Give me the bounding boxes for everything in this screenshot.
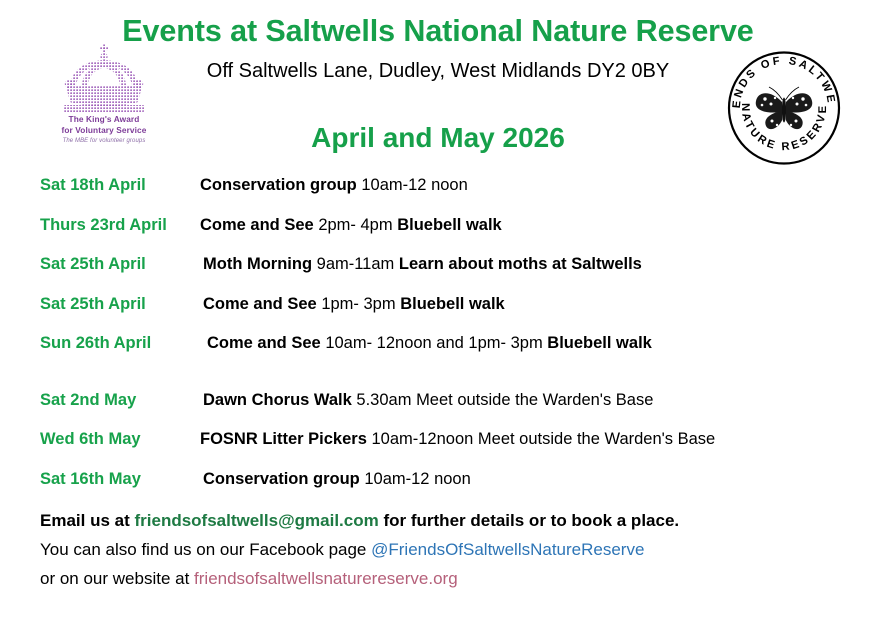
event-time: 10am-12noon [371, 430, 473, 448]
event-details: Moth Morning 9am-11am Learn about moths … [203, 255, 642, 274]
footer-email-period: . [674, 511, 679, 530]
footer-facebook-prefix: You can also find us on our Facebook pag… [40, 540, 371, 559]
event-details: Conservation group 10am-12 noon [203, 470, 471, 489]
event-time: 1pm- 3pm [321, 295, 395, 313]
events-list: Sat 18th AprilConservation group 10am-12… [0, 176, 876, 509]
event-title: Come and See [200, 216, 314, 234]
event-row: Thurs 23rd AprilCome and See 2pm- 4pm Bl… [0, 216, 876, 256]
event-row: Sat 18th AprilConservation group 10am-12… [0, 176, 876, 216]
event-title: Moth Morning [203, 255, 312, 273]
event-time: 2pm- 4pm [318, 216, 392, 234]
event-title: Conservation group [203, 470, 360, 488]
event-time: 10am-12 noon [361, 176, 467, 194]
event-details: Dawn Chorus Walk 5.30am Meet outside the… [203, 391, 653, 410]
footer-email-line: Email us at friendsofsaltwells@gmail.com… [40, 506, 860, 535]
event-note: Learn about moths at Saltwells [399, 255, 642, 273]
event-date: Thurs 23rd April [40, 216, 167, 235]
event-title: FOSNR Litter Pickers [200, 430, 367, 448]
footer-website-line: or on our website at friendsofsaltwellsn… [40, 564, 860, 593]
event-date: Sat 16th May [40, 470, 141, 489]
event-date: Sat 25th April [40, 295, 146, 314]
event-details: Come and See 1pm- 3pm Bluebell walk [203, 295, 505, 314]
event-row: Sun 26th AprilCome and See 10am- 12noon … [0, 334, 876, 374]
event-title: Dawn Chorus Walk [203, 391, 352, 409]
event-note: Bluebell walk [400, 295, 505, 313]
footer-website-prefix: or on our website at [40, 569, 194, 588]
event-note: Meet outside the Warden's Base [416, 391, 653, 409]
fosnr-logo: FRIENDS OF SALTWELLS NATURE RESERVE [726, 50, 842, 166]
poster-header: The King's Award for Voluntary Service T… [0, 0, 876, 172]
event-time: 5.30am [356, 391, 411, 409]
event-row: Sat 25th AprilMoth Morning 9am-11am Lear… [0, 255, 876, 295]
poster-footer: Email us at friendsofsaltwells@gmail.com… [40, 506, 860, 593]
event-date: Sat 25th April [40, 255, 146, 274]
facebook-link[interactable]: @FriendsOfSaltwellsNatureReserve [371, 540, 644, 559]
event-details: FOSNR Litter Pickers 10am-12noon Meet ou… [200, 430, 715, 449]
event-title: Come and See [207, 334, 321, 352]
event-note: Bluebell walk [397, 216, 502, 234]
event-title: Conservation group [200, 176, 357, 194]
footer-email-prefix: Email us at [40, 511, 134, 530]
event-details: Come and See 2pm- 4pm Bluebell walk [200, 216, 502, 235]
email-link[interactable]: friendsofsaltwells@gmail.com [134, 511, 378, 530]
website-link[interactable]: friendsofsaltwellsnaturereserve.org [194, 569, 458, 588]
event-date: Sun 26th April [40, 334, 151, 353]
event-note: Meet outside the Warden's Base [478, 430, 715, 448]
event-row: Sat 25th AprilCome and See 1pm- 3pm Blue… [0, 295, 876, 335]
footer-facebook-line: You can also find us on our Facebook pag… [40, 535, 860, 564]
event-details: Conservation group 10am-12 noon [200, 176, 468, 195]
event-title: Come and See [203, 295, 317, 313]
event-time: 10am-12 noon [364, 470, 470, 488]
events-poster: The King's Award for Voluntary Service T… [0, 0, 876, 618]
event-note: Bluebell walk [547, 334, 652, 352]
event-date: Sat 18th April [40, 176, 146, 195]
poster-title: Events at Saltwells National Nature Rese… [0, 14, 876, 49]
event-time: 9am-11am [317, 255, 395, 273]
event-time: 10am- 12noon and 1pm- 3pm [325, 334, 542, 352]
event-row: Wed 6th MayFOSNR Litter Pickers 10am-12n… [0, 430, 876, 470]
event-row: Sat 16th MayConservation group 10am-12 n… [0, 470, 876, 510]
footer-email-suffix: for further details or to book a place [379, 511, 675, 530]
event-details: Come and See 10am- 12noon and 1pm- 3pm B… [207, 334, 652, 353]
event-date: Sat 2nd May [40, 391, 136, 410]
event-date: Wed 6th May [40, 430, 141, 449]
event-row: Sat 2nd MayDawn Chorus Walk 5.30am Meet … [0, 391, 876, 431]
